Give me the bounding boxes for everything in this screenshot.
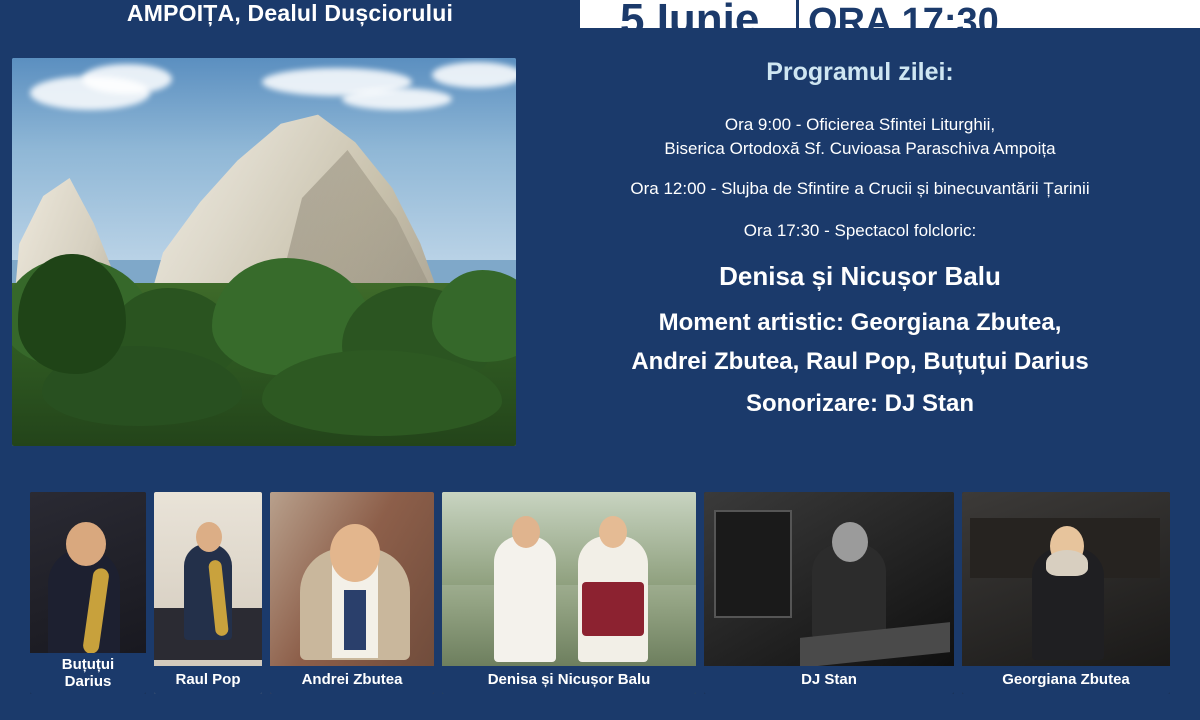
thumb-caption: Georgiana Zbutea — [962, 666, 1170, 694]
header-date-block: 5 Iunie ORA 17:30 — [600, 0, 1200, 28]
header-date-text: 5 Iunie — [620, 0, 759, 28]
event-poster: AMPOIȚA, Dealul Dușciorului 5 Iunie ORA … — [0, 0, 1200, 720]
thumb-head — [66, 522, 106, 566]
thumb-head — [330, 524, 380, 582]
thumb-caption-line1: Andrei Zbutea — [272, 671, 432, 688]
thumb-skirt-female — [582, 582, 644, 636]
thumb-head-female — [599, 516, 627, 548]
program-title: Programul zilei: — [534, 58, 1186, 87]
thumb-vest — [344, 590, 366, 650]
poster-header: AMPOIȚA, Dealul Dușciorului 5 Iunie ORA … — [0, 0, 1200, 28]
header-divider — [796, 0, 799, 28]
thumb-caption: DJ Stan — [704, 666, 954, 694]
artist-thumbnail-bututui-darius: Buțuțui Darius — [30, 492, 146, 694]
sound-value: DJ Stan — [885, 390, 974, 417]
thumb-caption-line1: Buțuțui — [32, 656, 144, 673]
sound-line: Sonorizare: DJ Stan — [534, 390, 1186, 418]
program-entry-1: Ora 9:00 - Oficierea Sfintei Liturghii, — [534, 113, 1186, 137]
thumb-caption: Denisa și Nicușor Balu — [442, 666, 696, 694]
artist-thumbnail-dj-stan: DJ Stan — [704, 492, 954, 694]
artist-thumbnail-andrei-zbutea: Andrei Zbutea — [270, 492, 434, 694]
thumb-head — [196, 522, 222, 552]
artist-thumbnail-georgiana-zbutea: Georgiana Zbutea — [962, 492, 1170, 694]
thumb-photo — [270, 492, 434, 694]
thumb-photo — [154, 492, 262, 694]
thumb-caption-line2: Darius — [32, 673, 144, 690]
thumb-body-male — [494, 536, 556, 662]
thumb-caption: Andrei Zbutea — [270, 666, 434, 694]
program-entry-4: Ora 17:30 - Spectacol folcloric: — [534, 219, 1186, 243]
thumb-hair — [1046, 550, 1088, 576]
moment-artistic-label: Moment artistic: — [659, 309, 844, 336]
thumb-head-male — [512, 516, 540, 548]
program-panel: Programul zilei: Ora 9:00 - Oficierea Sf… — [534, 58, 1186, 418]
headliner-artists: Denisa și Nicușor Balu — [534, 261, 1186, 292]
sound-label: Sonorizare: — [746, 390, 878, 417]
photo-cloud — [82, 64, 172, 94]
photo-cloud — [342, 88, 452, 110]
header-hour-text: ORA 17:30 — [808, 0, 999, 28]
thumb-caption-line1: DJ Stan — [706, 671, 952, 688]
moment-artistic-artists-1: Georgiana Zbutea, — [851, 309, 1062, 336]
thumb-photo — [704, 492, 954, 694]
moment-artistic-line-2: Andrei Zbutea, Raul Pop, Buțuțui Darius — [534, 345, 1186, 378]
moment-artistic-artists-2: Andrei Zbutea, Raul Pop, Buțuțui Darius — [631, 348, 1088, 375]
thumb-background-trees — [442, 492, 696, 585]
artist-thumbnail-raul-pop: Raul Pop — [154, 492, 262, 694]
hero-photo-rock-formation — [12, 58, 516, 446]
photo-cloud — [432, 62, 516, 88]
thumb-caption-line1: Denisa și Nicușor Balu — [444, 671, 694, 688]
artist-thumbnail-denisa-si-nicusor-balu: Denisa și Nicușor Balu — [442, 492, 696, 694]
thumb-photo — [962, 492, 1170, 694]
header-location-block: AMPOIȚA, Dealul Dușciorului — [0, 0, 580, 28]
thumb-caption: Raul Pop — [154, 666, 262, 694]
thumb-speaker — [714, 510, 792, 618]
program-entry-group-1: Ora 9:00 - Oficierea Sfintei Liturghii, … — [534, 113, 1186, 161]
thumb-caption: Buțuțui Darius — [30, 653, 146, 694]
program-entry-3: Ora 12:00 - Slujba de Sfintire a Crucii … — [534, 177, 1186, 201]
thumb-caption-line1: Raul Pop — [156, 671, 260, 688]
thumb-caption-line1: Georgiana Zbutea — [964, 671, 1168, 688]
header-location-text: AMPOIȚA, Dealul Dușciorului — [0, 0, 580, 26]
thumb-photo — [442, 492, 696, 694]
program-entry-2: Biserica Ortodoxă Sf. Cuvioasa Paraschiv… — [534, 137, 1186, 161]
moment-artistic-line-1: Moment artistic: Georgiana Zbutea, — [534, 306, 1186, 339]
thumb-head — [832, 522, 868, 562]
artist-thumbnail-strip: Buțuțui Darius Raul Pop — [0, 470, 1200, 720]
